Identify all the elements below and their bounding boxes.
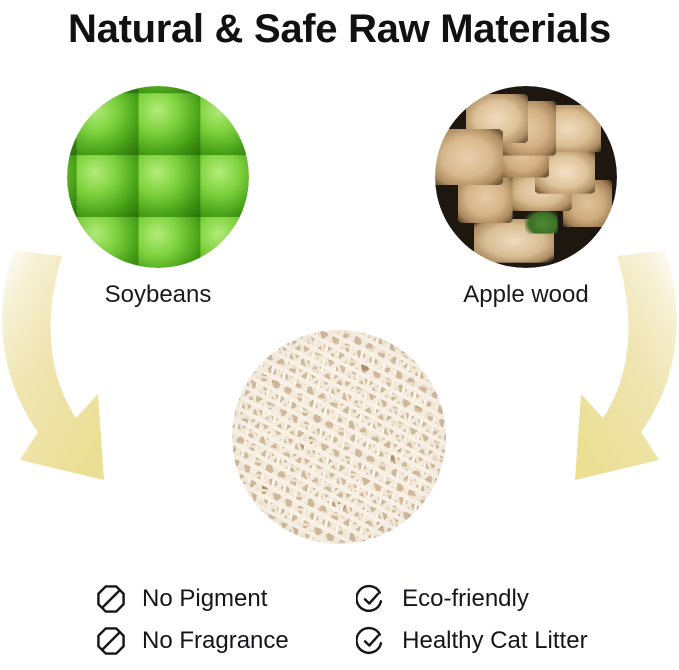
feature-no-pigment: No Pigment xyxy=(96,584,356,614)
feature-row: No Pigment Eco-friendly xyxy=(96,578,596,620)
page-title: Natural & Safe Raw Materials xyxy=(0,4,679,54)
feature-label: No Fragrance xyxy=(142,627,289,655)
cat-litter-image xyxy=(232,330,446,544)
apple-wood-image xyxy=(435,86,617,268)
feature-eco-friendly: Eco-friendly xyxy=(356,584,596,614)
prohibition-icon xyxy=(96,626,126,656)
feature-label: No Pigment xyxy=(142,585,267,613)
soybeans-caption: Soybeans xyxy=(67,280,249,310)
feature-no-fragrance: No Fragrance xyxy=(96,626,356,656)
feature-row: No Fragrance Healthy Cat Litter xyxy=(96,620,596,662)
apple-wood-photo-texture xyxy=(435,86,617,268)
soybeans-photo-texture xyxy=(67,86,249,268)
prohibition-icon xyxy=(96,584,126,614)
check-circle-icon xyxy=(356,626,386,656)
infographic-root: Natural & Safe Raw Materials Soybeans Ap… xyxy=(0,0,679,670)
feature-healthy-cat-litter: Healthy Cat Litter xyxy=(356,626,596,656)
feature-label: Healthy Cat Litter xyxy=(402,627,587,655)
apple-wood-caption: Apple wood xyxy=(435,280,617,310)
soybeans-image xyxy=(67,86,249,268)
check-circle-icon xyxy=(356,584,386,614)
cat-litter-photo-texture xyxy=(232,330,446,544)
feature-label: Eco-friendly xyxy=(402,585,529,613)
feature-list: No Pigment Eco-friendly No Fragrance xyxy=(96,578,596,662)
